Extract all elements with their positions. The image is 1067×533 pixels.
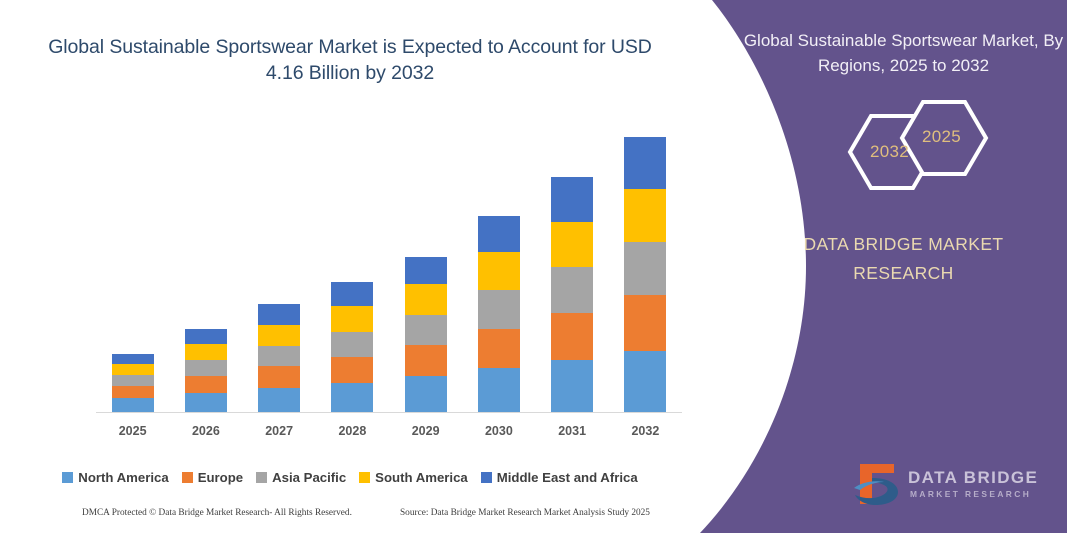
- bar-segment: [551, 360, 593, 413]
- bar-segment: [185, 393, 227, 413]
- bar-column: [405, 257, 447, 413]
- x-axis-tick-label: 2032: [610, 424, 680, 438]
- chart-plot-area: [96, 120, 682, 413]
- legend-item[interactable]: Europe: [182, 470, 243, 485]
- legend-item[interactable]: North America: [62, 470, 168, 485]
- x-axis-tick-label: 2026: [171, 424, 241, 438]
- bar-segment: [258, 304, 300, 324]
- company-logo: DATA BRIDGE MARKET RESEARCH: [850, 458, 1050, 520]
- legend-swatch: [481, 472, 492, 483]
- bar-segment: [258, 346, 300, 366]
- bar-segment: [112, 375, 154, 386]
- bar-segment: [331, 306, 373, 331]
- bar-segment: [624, 351, 666, 413]
- x-axis-tick-label: 2031: [537, 424, 607, 438]
- bar-segment: [551, 222, 593, 267]
- logo-main-text: DATA BRIDGE: [908, 468, 1038, 488]
- bar-segment: [478, 368, 520, 413]
- chart-legend: North AmericaEuropeAsia PacificSouth Ame…: [0, 470, 700, 485]
- bar-segment: [405, 315, 447, 345]
- bar-segment: [478, 216, 520, 252]
- logo-sub-text: MARKET RESEARCH: [910, 489, 1031, 499]
- bar-segment: [185, 329, 227, 344]
- bar-segment: [551, 267, 593, 312]
- bar-segment: [405, 257, 447, 284]
- chart-baseline: [96, 412, 682, 413]
- chart-title: Global Sustainable Sportswear Market is …: [40, 34, 660, 86]
- brand-line-1: DATA BRIDGE MARKET: [740, 230, 1067, 259]
- bar-segment: [185, 376, 227, 393]
- hexagon-year-badges: 2032 2025: [740, 100, 1067, 205]
- brand-name: DATA BRIDGE MARKET RESEARCH: [740, 230, 1067, 288]
- brand-line-2: RESEARCH: [740, 259, 1067, 288]
- footer-copyright: DMCA Protected © Data Bridge Market Rese…: [82, 508, 352, 518]
- bar-segment: [185, 360, 227, 376]
- panel-title: Global Sustainable Sportswear Market, By…: [740, 28, 1067, 78]
- bar-segment: [624, 242, 666, 295]
- bar-segment: [112, 354, 154, 364]
- legend-swatch: [256, 472, 267, 483]
- x-axis-tick-label: 2028: [317, 424, 387, 438]
- bar-segment: [112, 386, 154, 398]
- bar-segment: [624, 189, 666, 242]
- legend-swatch: [359, 472, 370, 483]
- bar-segment: [405, 345, 447, 376]
- bar-segment: [624, 137, 666, 189]
- x-axis-tick-label: 2027: [244, 424, 314, 438]
- legend-swatch: [62, 472, 73, 483]
- bar-segment: [258, 366, 300, 388]
- bar-column: [624, 137, 666, 413]
- bar-segment: [405, 284, 447, 314]
- footer-source: Source: Data Bridge Market Research Mark…: [400, 508, 650, 518]
- infographic-canvas: Global Sustainable Sportswear Market is …: [0, 0, 1067, 533]
- chart-panel: Global Sustainable Sportswear Market is …: [0, 0, 700, 533]
- bar-segment: [331, 357, 373, 383]
- legend-item[interactable]: Asia Pacific: [256, 470, 346, 485]
- bar-segment: [478, 252, 520, 290]
- bar-column: [478, 216, 520, 413]
- bar-segment: [185, 344, 227, 360]
- x-axis-tick-label: 2030: [464, 424, 534, 438]
- x-axis-tick-label: 2025: [98, 424, 168, 438]
- bar-segment: [551, 177, 593, 222]
- bar-segment: [478, 290, 520, 328]
- logo-mark-icon: [850, 458, 904, 510]
- legend-label: Middle East and Africa: [497, 470, 638, 485]
- bar-segment: [258, 388, 300, 413]
- legend-item[interactable]: Middle East and Africa: [481, 470, 638, 485]
- bar-column: [258, 304, 300, 413]
- bar-segment: [551, 313, 593, 360]
- panel-content: Global Sustainable Sportswear Market, By…: [740, 0, 1067, 533]
- x-axis-tick-label: 2029: [391, 424, 461, 438]
- bar-segment: [331, 383, 373, 413]
- legend-label: North America: [78, 470, 168, 485]
- bar-segment: [478, 329, 520, 368]
- bar-column: [112, 354, 154, 413]
- legend-swatch: [182, 472, 193, 483]
- bar-segment: [405, 376, 447, 413]
- legend-label: Europe: [198, 470, 243, 485]
- bar-segment: [624, 295, 666, 350]
- bar-segment: [331, 282, 373, 306]
- bar-segment: [112, 364, 154, 375]
- bar-segment: [112, 398, 154, 413]
- bar-column: [331, 282, 373, 413]
- legend-item[interactable]: South America: [359, 470, 468, 485]
- bar-column: [185, 329, 227, 413]
- bar-column: [551, 177, 593, 413]
- hexagon-start-year-label: 2025: [922, 127, 961, 147]
- legend-label: South America: [375, 470, 468, 485]
- bar-segment: [258, 325, 300, 346]
- bar-segment: [331, 332, 373, 357]
- chart-x-axis: 20252026202720282029203020312032: [96, 424, 682, 444]
- hexagon-end-year-label: 2032: [870, 142, 909, 162]
- legend-label: Asia Pacific: [272, 470, 346, 485]
